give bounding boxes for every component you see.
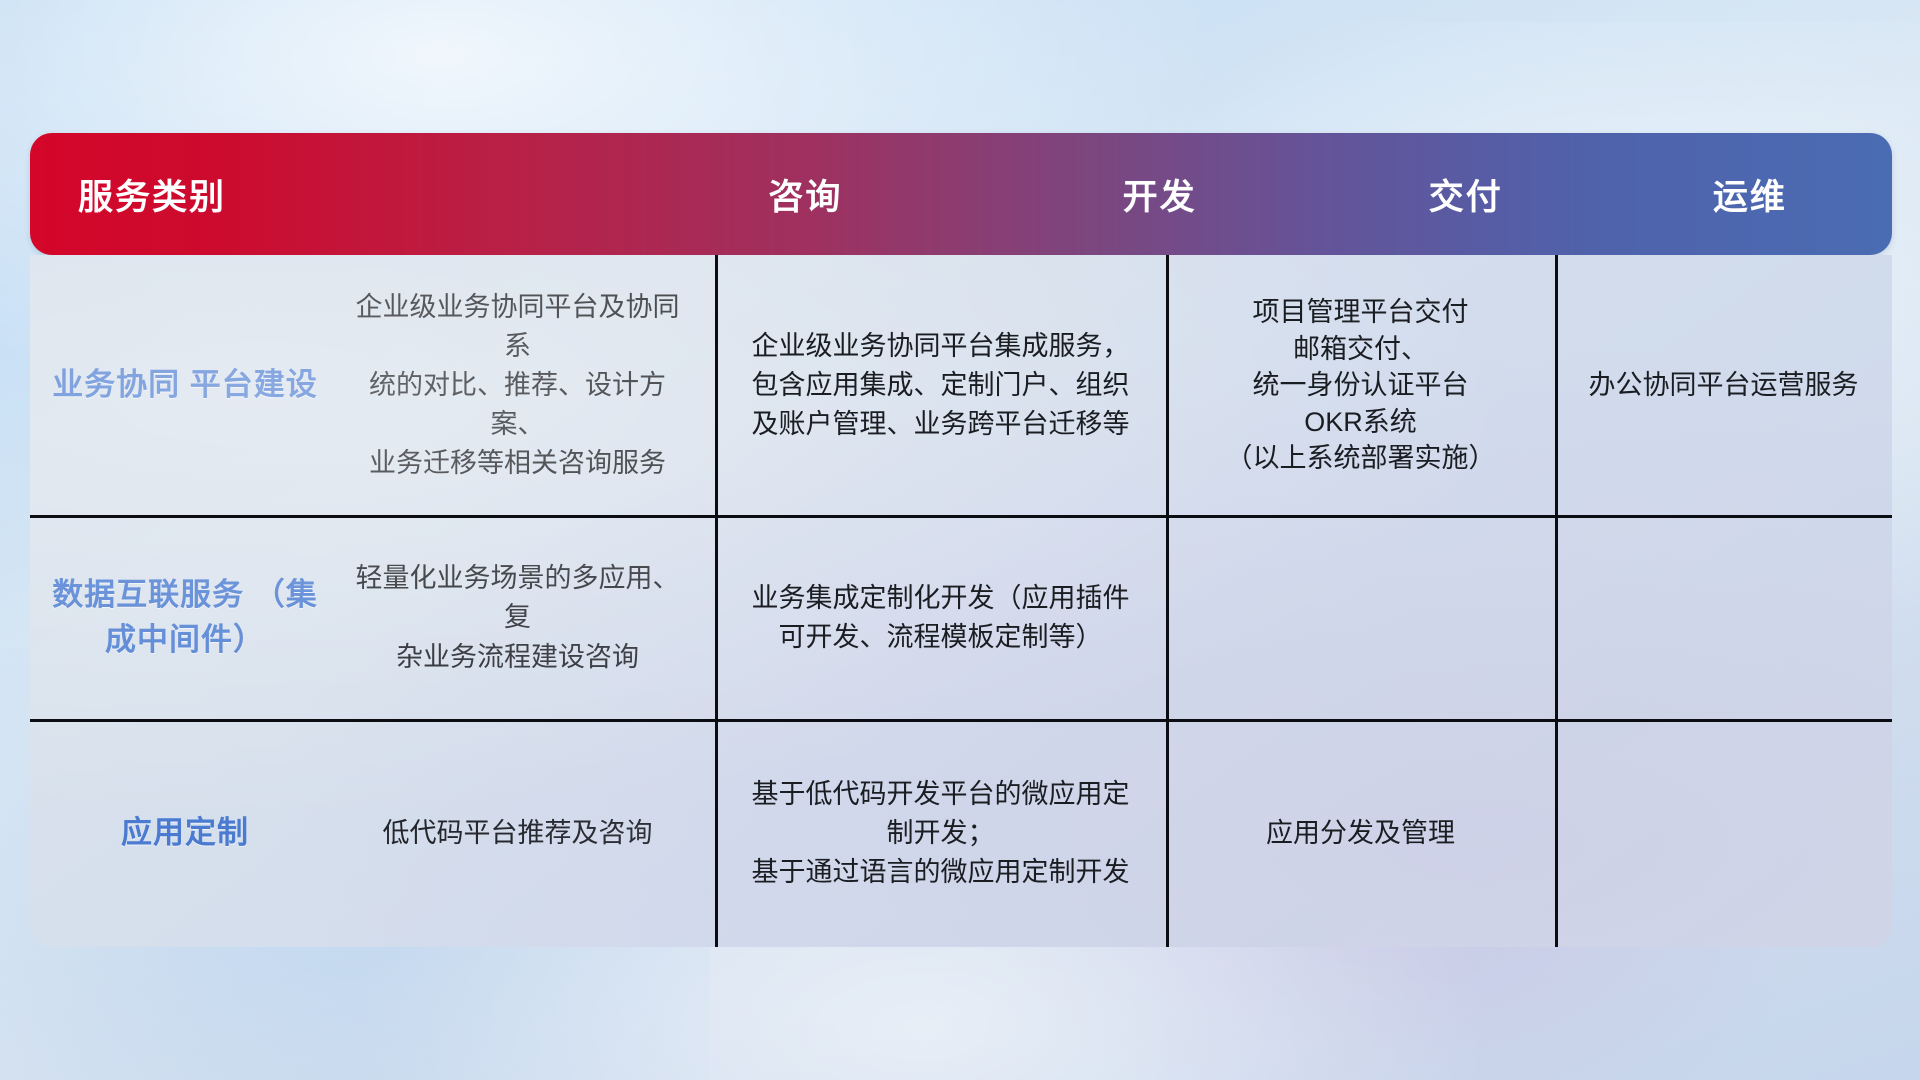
development-cell-text: 业务集成定制化开发（应用插件 可开发、流程模板定制等） <box>715 579 1166 657</box>
category-cell: 数据互联服务 （集成中间件） 轻量化业务场景的多应用、复 杂业务流程建设咨询 <box>30 516 715 720</box>
development-cell: 基于低代码开发平台的微应用定 制开发； 基于通过语言的微应用定制开发 <box>715 720 1166 947</box>
service-matrix-table: 服务类别 咨询 开发 交付 运维 业务协同 平台建设 企业级业务协同平台及协同系… <box>30 133 1892 947</box>
category-label: 数据互联服务 （集成中间件） <box>50 573 320 663</box>
operations-cell-text: 办公协同平台运营服务 <box>1555 366 1892 405</box>
category-label: 业务协同 平台建设 <box>50 363 320 408</box>
delivery-cell <box>1166 516 1555 720</box>
delivery-cell: 项目管理平台交付 邮箱交付、 统一身份认证平台 OKR系统 （以上系统部署实施） <box>1166 255 1555 516</box>
operations-cell: 办公协同平台运营服务 <box>1555 255 1892 516</box>
category-cell: 业务协同 平台建设 企业级业务协同平台及协同系 统的对比、推荐、设计方案、 业务… <box>30 255 715 516</box>
column-header-development: 开发 <box>996 169 1324 220</box>
table-row: 业务协同 平台建设 企业级业务协同平台及协同系 统的对比、推荐、设计方案、 业务… <box>30 255 1892 516</box>
row-divider <box>30 719 1892 722</box>
table-row: 数据互联服务 （集成中间件） 轻量化业务场景的多应用、复 杂业务流程建设咨询 业… <box>30 516 1892 720</box>
development-cell-text: 企业级业务协同平台集成服务， 包含应用集成、定制门户、组织 及账户管理、业务跨平… <box>715 327 1166 444</box>
table-body: 业务协同 平台建设 企业级业务协同平台及协同系 统的对比、推荐、设计方案、 业务… <box>30 255 1892 947</box>
development-cell: 业务集成定制化开发（应用插件 可开发、流程模板定制等） <box>715 516 1166 720</box>
category-label: 应用定制 <box>50 811 320 856</box>
development-cell: 企业级业务协同平台集成服务， 包含应用集成、定制门户、组织 及账户管理、业务跨平… <box>715 255 1166 516</box>
development-cell-text: 基于低代码开发平台的微应用定 制开发； 基于通过语言的微应用定制开发 <box>715 775 1166 892</box>
table-row: 应用定制 低代码平台推荐及咨询 基于低代码开发平台的微应用定 制开发； 基于通过… <box>30 720 1892 947</box>
operations-cell <box>1555 516 1892 720</box>
delivery-cell: 应用分发及管理 <box>1166 720 1555 947</box>
delivery-cell-text: 项目管理平台交付 邮箱交付、 统一身份认证平台 OKR系统 （以上系统部署实施） <box>1166 294 1555 476</box>
row-divider <box>30 515 1892 518</box>
delivery-cell-text: 应用分发及管理 <box>1166 814 1555 853</box>
consulting-cell-text: 轻量化业务场景的多应用、复 杂业务流程建设咨询 <box>320 559 715 676</box>
column-divider <box>715 255 718 947</box>
consulting-cell-text: 企业级业务协同平台及协同系 统的对比、推荐、设计方案、 业务迁移等相关咨询服务 <box>320 288 715 484</box>
column-header-consulting: 咨询 <box>615 169 995 220</box>
category-cell: 应用定制 低代码平台推荐及咨询 <box>30 720 715 947</box>
column-header-delivery: 交付 <box>1324 169 1608 220</box>
column-divider <box>1555 255 1558 947</box>
consulting-cell-text: 低代码平台推荐及咨询 <box>320 814 715 853</box>
column-header-operations: 运维 <box>1608 169 1892 220</box>
column-divider <box>1166 255 1169 947</box>
column-header-service-category: 服务类别 <box>30 169 615 220</box>
table-header-row: 服务类别 咨询 开发 交付 运维 <box>30 133 1892 255</box>
operations-cell <box>1555 720 1892 947</box>
